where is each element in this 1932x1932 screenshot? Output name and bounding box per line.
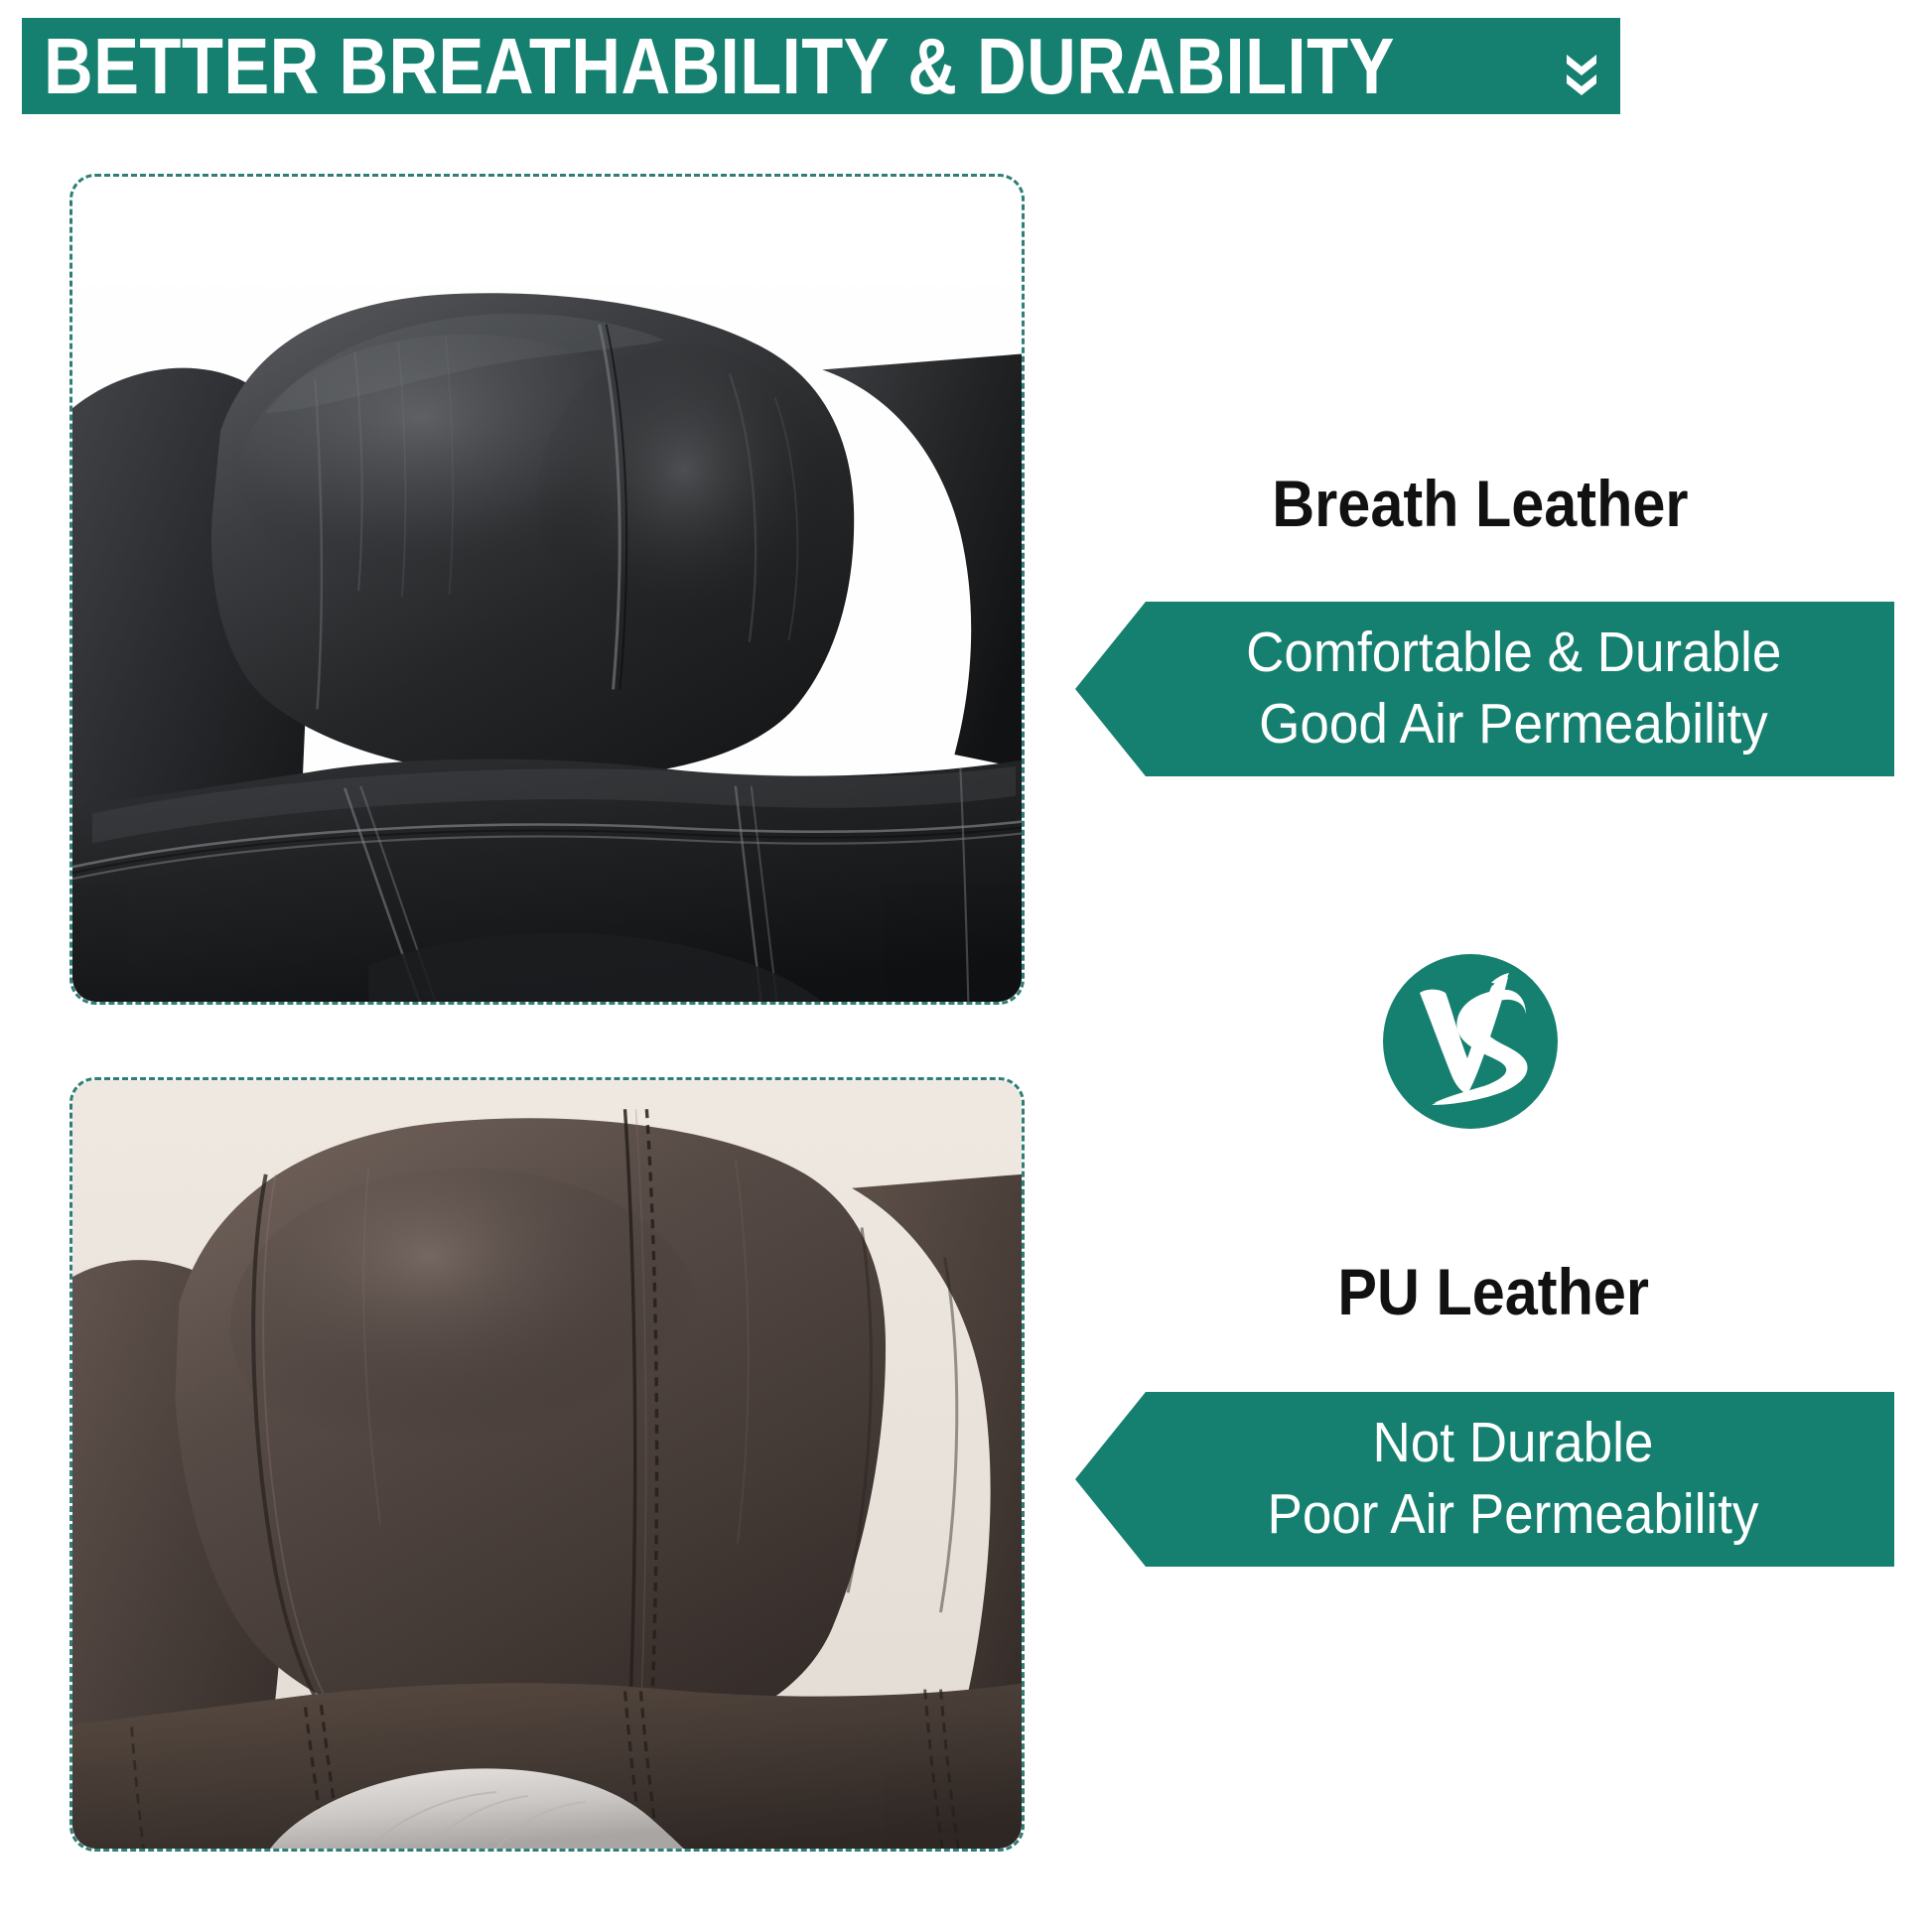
breath-leather-photo-frame	[69, 174, 1025, 1005]
header-banner: BETTER BREATHABILITY & DURABILITY	[22, 18, 1620, 114]
pu-leather-heading: PU Leather	[1337, 1259, 1649, 1324]
breath-leather-callout: Comfortable & Durable Good Air Permeabil…	[1075, 602, 1894, 776]
page-title: BETTER BREATHABILITY & DURABILITY	[44, 27, 1395, 106]
breath-leather-callout-line-1: Comfortable & Durable	[1188, 618, 1781, 689]
pu-leather-callout: Not Durable Poor Air Permeability	[1075, 1392, 1894, 1567]
pu-leather-callout-line-1: Not Durable	[1315, 1408, 1654, 1479]
breath-leather-photo	[72, 177, 1022, 1002]
breath-leather-heading: Breath Leather	[1272, 471, 1688, 536]
double-chevron-down-icon	[1565, 53, 1598, 98]
pu-leather-photo	[72, 1080, 1022, 1849]
infographic-root: BETTER BREATHABILITY & DURABILITY	[0, 0, 1932, 1932]
breath-leather-callout-line-2: Good Air Permeability	[1201, 689, 1767, 760]
pu-leather-photo-frame	[69, 1077, 1025, 1852]
pu-leather-callout-line-2: Poor Air Permeability	[1210, 1479, 1759, 1551]
vs-badge-icon	[1376, 947, 1565, 1136]
